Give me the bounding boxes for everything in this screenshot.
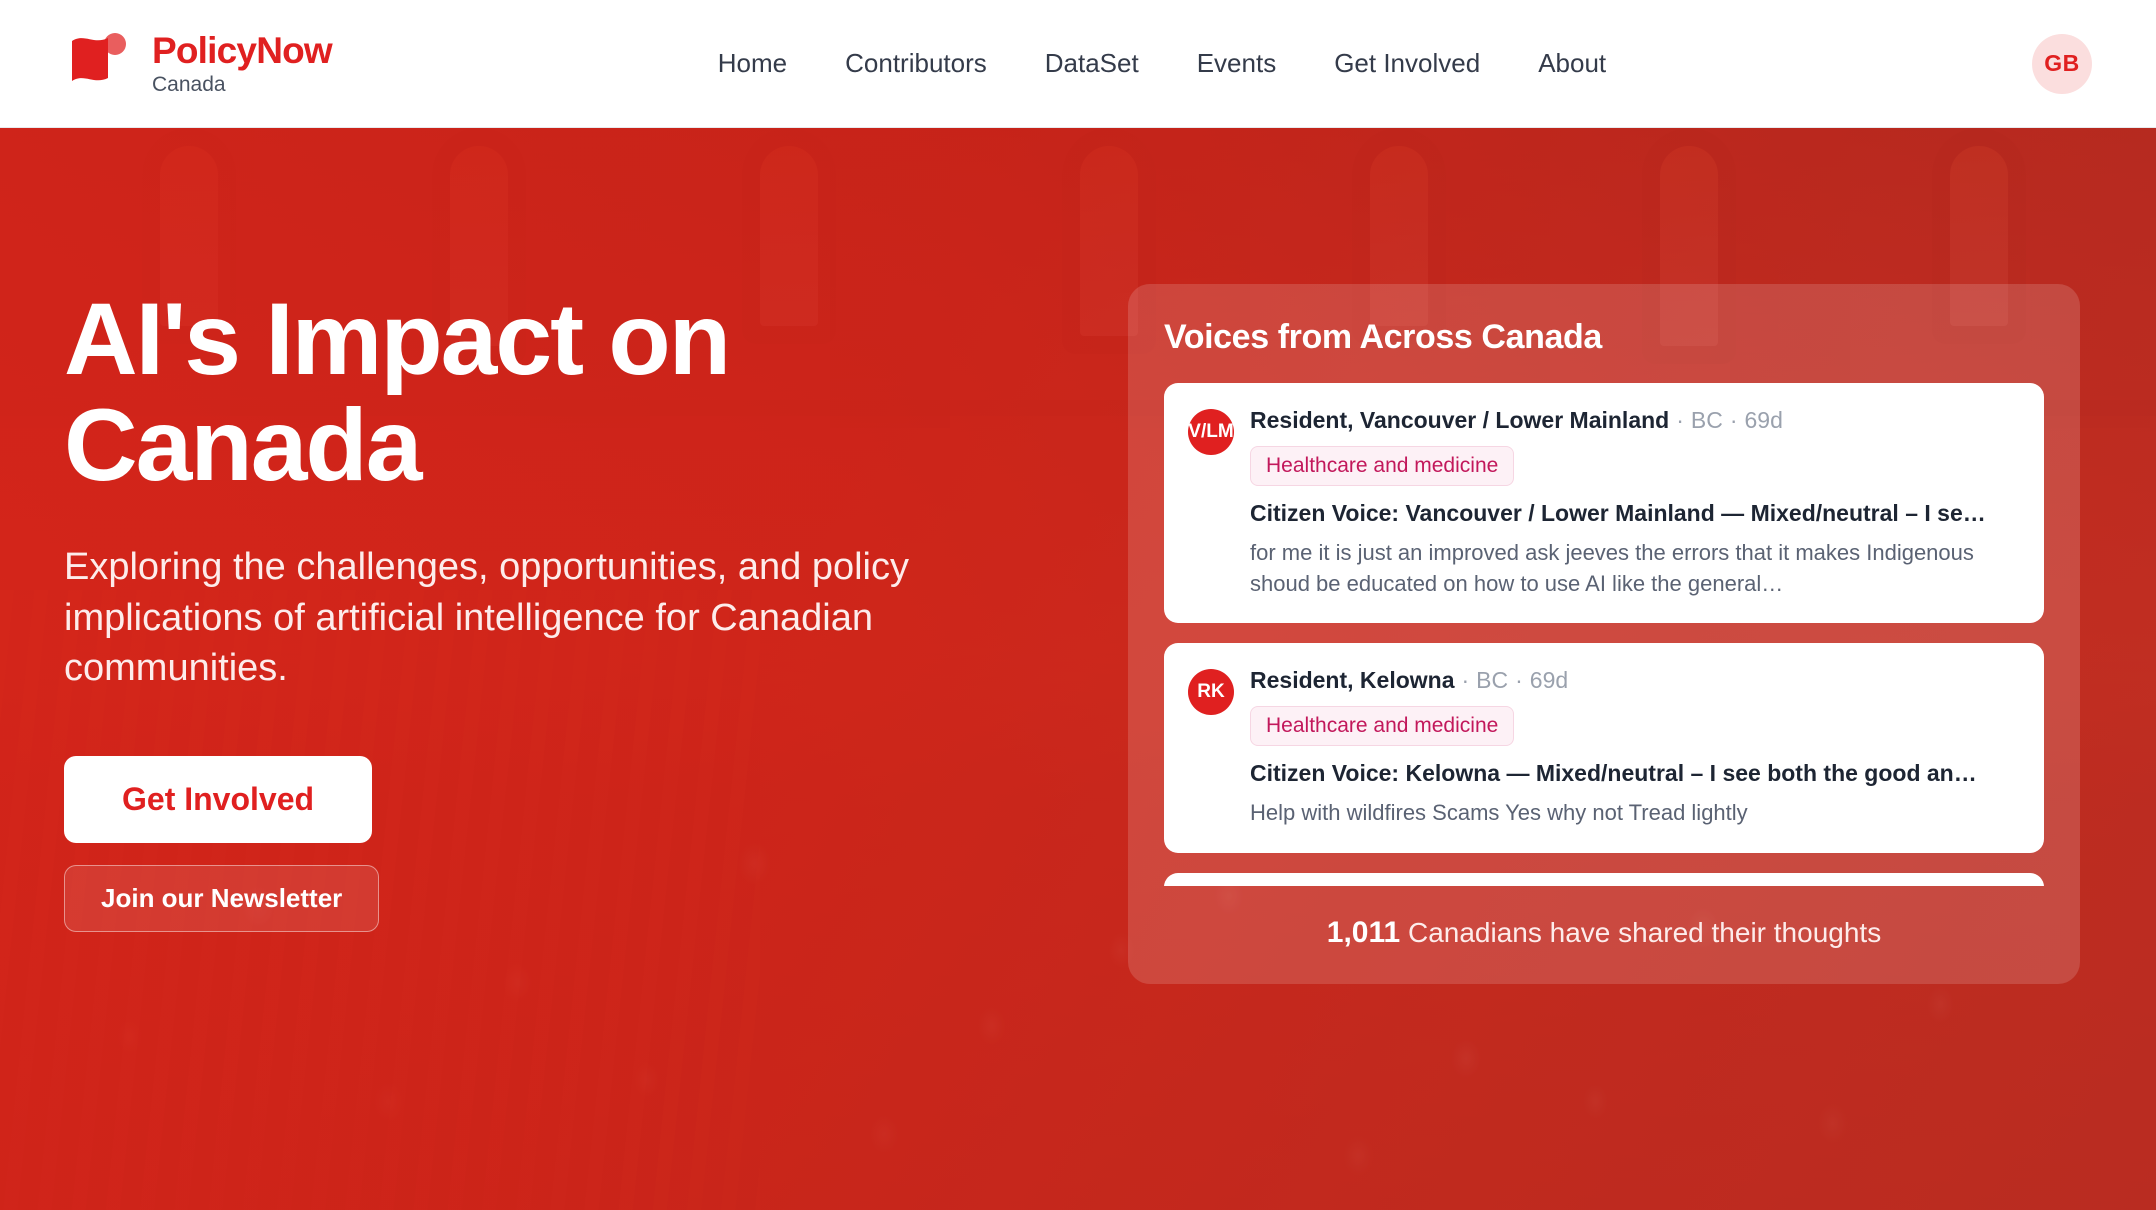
voice-age: 69d [1530,667,1568,693]
voice-meta: Resident, Kelowna·BC·69d [1250,667,2018,694]
meta-separator-icon: · [1461,667,1469,693]
voice-avatar: V/LM [1188,409,1234,455]
hero-actions: Get Involved Join our Newsletter [64,756,1124,932]
get-involved-button[interactable]: Get Involved [64,756,372,843]
hero-title: AI's Impact on Canada [64,286,894,498]
voice-region: BC [1691,407,1723,433]
flag-bookmark-icon [64,31,134,97]
voice-topic-tag[interactable]: Healthcare and medicine [1250,446,1514,486]
nav-item-home[interactable]: Home [716,42,789,85]
voice-author: Resident, Vancouver / Lower Mainland [1250,407,1669,433]
nav-item-events[interactable]: Events [1195,42,1279,85]
nav-item-dataset[interactable]: DataSet [1043,42,1141,85]
voice-card[interactable]: RV Resident, Victoria·BC·69d Not sure Ci… [1164,873,2044,886]
voice-author: Resident, Kelowna [1250,667,1454,693]
voices-list[interactable]: V/LM Resident, Vancouver / Lower Mainlan… [1164,383,2044,886]
nav-item-contributors[interactable]: Contributors [843,42,989,85]
meta-separator-icon: · [1730,407,1738,433]
voices-panel: Voices from Across Canada V/LM Resident,… [1128,284,2080,984]
voice-card[interactable]: RK Resident, Kelowna·BC·69d Healthcare a… [1164,643,2044,852]
nav-item-about[interactable]: About [1536,42,1608,85]
meta-separator-icon: · [1515,667,1523,693]
voice-meta: Resident, Vancouver / Lower Mainland·BC·… [1250,407,2018,434]
voices-footer: 1,011 Canadians have shared their though… [1164,886,2044,984]
voice-avatar: RK [1188,669,1234,715]
join-newsletter-button[interactable]: Join our Newsletter [64,865,379,932]
meta-separator-icon: · [1676,407,1684,433]
hero-copy-column: AI's Impact on Canada Exploring the chal… [64,128,1124,932]
nav-item-get-involved[interactable]: Get Involved [1332,42,1482,85]
hero-section: AI's Impact on Canada Exploring the chal… [0,128,2156,1210]
voice-snippet: for me it is just an improved ask jeeves… [1250,537,2018,599]
user-avatar[interactable]: GB [2032,34,2092,94]
voices-panel-title: Voices from Across Canada [1164,318,2044,357]
voice-region: BC [1476,667,1508,693]
voice-age: 69d [1745,407,1783,433]
hero-subtitle: Exploring the challenges, opportunities,… [64,542,1004,694]
voice-card[interactable]: V/LM Resident, Vancouver / Lower Mainlan… [1164,383,2044,623]
voices-footer-text: Canadians have shared their thoughts [1408,917,1881,948]
site-header: PolicyNow Canada Home Contributors DataS… [0,0,2156,128]
voice-headline: Citizen Voice: Kelowna — Mixed/neutral –… [1250,760,2018,787]
main-navigation: Home Contributors DataSet Events Get Inv… [292,42,2032,85]
voice-topic-tag[interactable]: Healthcare and medicine [1250,706,1514,746]
voice-snippet: Help with wildfires Scams Yes why not Tr… [1250,797,2018,828]
voice-headline: Citizen Voice: Vancouver / Lower Mainlan… [1250,500,2018,527]
voices-count: 1,011 [1327,916,1400,949]
